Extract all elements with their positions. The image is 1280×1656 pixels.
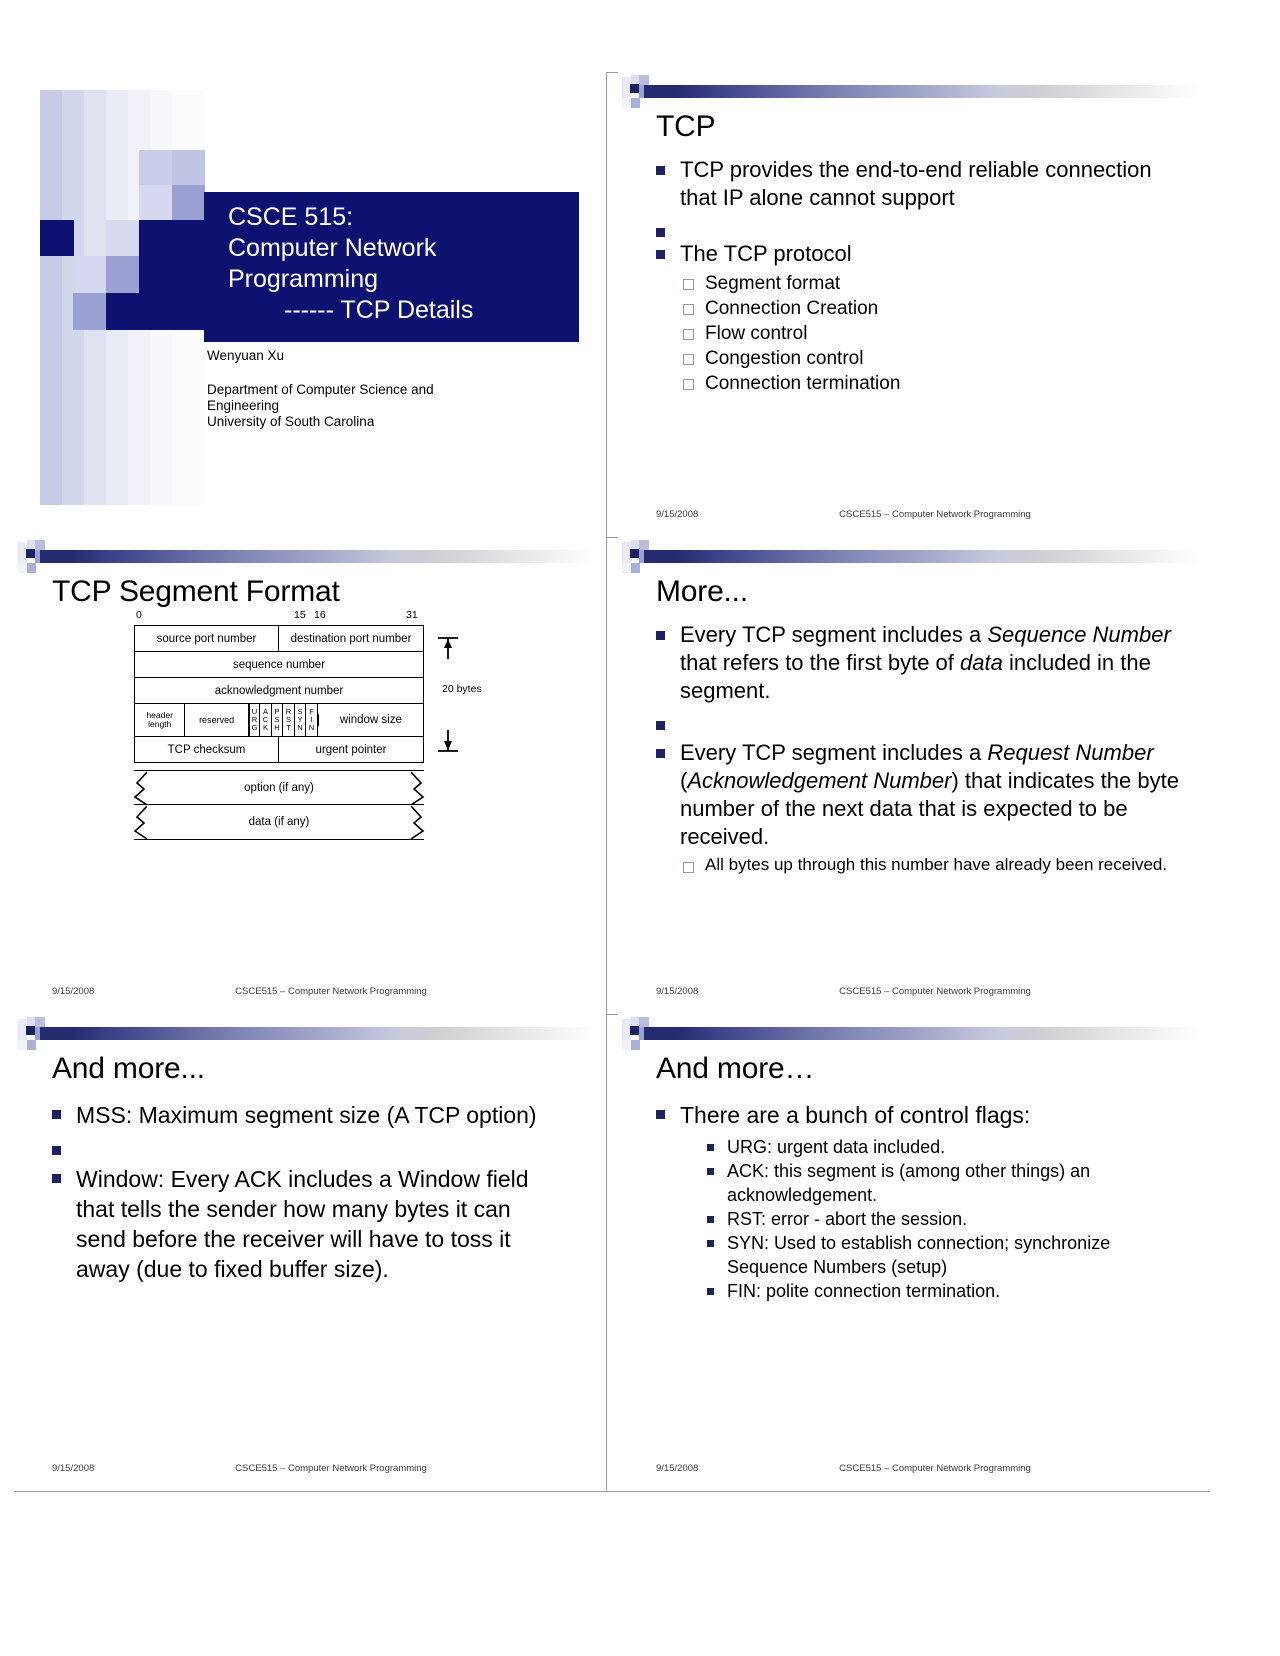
segment-header-table: source port number destination port numb… <box>134 625 424 763</box>
field-data: data (if any) <box>134 805 424 840</box>
table-row: source port number destination port numb… <box>135 626 423 652</box>
sub-bullet-text: ACK: this segment is (among other things… <box>727 1161 1090 1205</box>
title-decoration <box>40 90 205 505</box>
slide-header-decoration <box>618 1014 1210 1054</box>
flag-bit-fin: FIN <box>306 704 318 736</box>
sub-bullet-item: All bytes up through this number have al… <box>680 854 1192 876</box>
slide-footer: 9/15/2008 CSCE515 – Computer Network Pro… <box>618 1463 1210 1477</box>
slide-footer: 9/15/2008 CSCE515 – Computer Network Pro… <box>618 986 1210 1000</box>
affiliation-line-3: University of South Carolina <box>207 414 434 430</box>
field-option: option (if any) <box>134 770 424 805</box>
slide-and-more-1[interactable]: And more... MSS: Maximum segment size (A… <box>14 1014 606 1491</box>
footer-center: CSCE515 – Computer Network Programming <box>14 986 606 997</box>
affiliation-line-1: Department of Computer Science and <box>207 382 434 398</box>
bit-label-0: 0 <box>136 609 142 621</box>
table-row: acknowledgment number <box>135 678 423 704</box>
sub-bullet-item: Connection Creation <box>680 296 1172 321</box>
field-option-label: option (if any) <box>244 782 314 794</box>
sub-bullet-text: Flow control <box>705 323 807 344</box>
sub-bullet-text: Connection Creation <box>705 298 878 319</box>
bullet-list: MSS: Maximum segment size (A TCP option)… <box>48 1100 548 1290</box>
bullet-item: Every TCP segment includes a Request Num… <box>652 739 1192 876</box>
size-annotation: 20 bytes <box>432 635 502 745</box>
sub-bullet-item: Connection termination <box>680 371 1172 396</box>
header-gradient-bar <box>40 1027 596 1040</box>
slide-footer: 9/15/2008 CSCE515 – Computer Network Pro… <box>14 1463 606 1477</box>
slide-title-text: TCP Segment Format <box>52 575 340 609</box>
header-accent-square <box>630 1026 639 1035</box>
sub-bullet-item: Flow control <box>680 321 1172 346</box>
bullet-text: The TCP protocol <box>680 241 852 266</box>
flag-bit-syn: SYN <box>295 704 307 736</box>
slide-grid: CSCE 515: Computer Network Programming -… <box>14 72 1210 1492</box>
bullet-list: TCP provides the end-to-end reliable con… <box>652 156 1172 402</box>
bit-label-15: 15 <box>294 609 306 621</box>
flag-bit-urg: URG <box>249 704 261 736</box>
bullet-spacer <box>652 711 1192 733</box>
header-accent-square <box>630 549 639 558</box>
title-line-2: Computer Network <box>228 233 436 264</box>
bullet-text: TCP provides the end-to-end reliable con… <box>680 157 1152 210</box>
bullet-spacer <box>48 1136 548 1158</box>
title-line-4: ------ TCP Details <box>284 295 473 326</box>
slide-title-text: And more… <box>656 1052 814 1086</box>
field-window-size: window size <box>318 714 423 726</box>
sub-bullet-text: Segment format <box>705 273 840 294</box>
slide-header-decoration <box>14 1014 606 1054</box>
sub-bullet-item: Congestion control <box>680 346 1172 371</box>
bullet-item: TCP provides the end-to-end reliable con… <box>652 156 1172 212</box>
table-row: TCP checksum urgent pointer <box>135 737 423 763</box>
sub-bullet-list: Segment format Connection Creation Flow … <box>680 271 1172 396</box>
jagged-break-right-icon <box>411 805 425 839</box>
sub-bullet-item: RST: error - abort the session. <box>702 1207 1162 1231</box>
sub-bullet-text: SYN: Used to establish connection; synch… <box>727 1233 1110 1277</box>
sub-bullet-item: ACK: this segment is (among other things… <box>702 1159 1162 1207</box>
title-line-1: CSCE 515: <box>228 202 353 233</box>
table-row: sequence number <box>135 652 423 678</box>
footer-center: CSCE515 – Computer Network Programming <box>14 1463 606 1474</box>
header-gradient-bar <box>644 1027 1200 1040</box>
slide-more[interactable]: More... Every TCP segment includes a Seq… <box>618 537 1210 1014</box>
bit-ruler: 0 15 16 31 <box>134 609 464 625</box>
field-header-length: header length <box>135 704 185 736</box>
sub-bullet-list: URG: urgent data included. ACK: this seg… <box>680 1135 1162 1303</box>
bullet-text: Every TCP segment includes a Request Num… <box>680 740 1179 849</box>
field-sequence-number: sequence number <box>135 652 423 677</box>
field-acknowledgment-number: acknowledgment number <box>135 678 423 703</box>
header-gradient-bar <box>644 85 1200 98</box>
sub-bullet-item: URG: urgent data included. <box>702 1135 1162 1159</box>
bullet-text: Every TCP segment includes a Sequence Nu… <box>680 622 1171 703</box>
flag-bit-psh: PSH <box>272 704 284 736</box>
bit-label-31: 31 <box>406 609 418 621</box>
bullet-text: MSS: Maximum segment size (A TCP option) <box>76 1102 537 1128</box>
slide-title[interactable]: CSCE 515: Computer Network Programming -… <box>14 72 606 537</box>
slide-segment-format[interactable]: TCP Segment Format 0 15 16 31 source por… <box>14 537 606 1014</box>
size-arrow-icon <box>432 635 472 755</box>
footer-center: CSCE515 – Computer Network Programming <box>618 986 1210 997</box>
bullet-item: MSS: Maximum segment size (A TCP option) <box>48 1100 548 1130</box>
field-tcp-checksum: TCP checksum <box>135 737 279 762</box>
flag-bit-rst: RST <box>283 704 295 736</box>
bullet-text: There are a bunch of control flags: <box>680 1102 1030 1128</box>
bullet-text: Window: Every ACK includes a Window fiel… <box>76 1166 529 1282</box>
slide-footer: 9/15/2008 CSCE515 – Computer Network Pro… <box>14 986 606 1000</box>
header-length-line-2: length <box>148 720 171 730</box>
field-reserved: reserved <box>185 704 248 736</box>
jagged-break-right-icon <box>411 771 425 804</box>
bullet-item: Window: Every ACK includes a Window fiel… <box>48 1164 548 1284</box>
sub-bullet-list: All bytes up through this number have al… <box>680 854 1192 876</box>
title-box: CSCE 515: Computer Network Programming -… <box>204 192 579 342</box>
header-gradient-bar <box>40 550 596 563</box>
bullet-spacer <box>652 218 1172 240</box>
field-data-label: data (if any) <box>249 816 310 828</box>
slide-and-more-2[interactable]: And more… There are a bunch of control f… <box>618 1014 1210 1491</box>
header-accent-square <box>26 549 35 558</box>
affiliation: Department of Computer Science and Engin… <box>207 382 434 430</box>
bullet-item: Every TCP segment includes a Sequence Nu… <box>652 621 1192 705</box>
title-line-3: Programming <box>228 264 378 295</box>
bullet-list: Every TCP segment includes a Sequence Nu… <box>652 621 1192 882</box>
slide-header-decoration <box>618 537 1210 577</box>
bit-label-16: 16 <box>314 609 326 621</box>
slide-title-text: TCP <box>656 110 715 144</box>
slide-header-decoration <box>618 72 1210 112</box>
bullet-item: The TCP protocol Segment format Connecti… <box>652 240 1172 396</box>
bullet-item: There are a bunch of control flags: URG:… <box>652 1100 1162 1303</box>
header-gradient-bar <box>644 550 1200 563</box>
header-accent-square <box>630 84 639 93</box>
jagged-break-left-icon <box>133 805 147 839</box>
slide-title-text: More... <box>656 575 748 609</box>
sub-bullet-text: FIN: polite connection termination. <box>727 1281 1000 1301</box>
sub-bullet-item: FIN: polite connection termination. <box>702 1279 1162 1303</box>
jagged-break-left-icon <box>133 771 147 804</box>
bullet-list: There are a bunch of control flags: URG:… <box>652 1100 1162 1309</box>
field-destination-port: destination port number <box>279 626 423 651</box>
table-row-flags: header length reserved URG ACK PSH RST S… <box>135 704 423 737</box>
sub-bullet-text: All bytes up through this number have al… <box>705 855 1167 874</box>
sub-bullet-item: Segment format <box>680 271 1172 296</box>
affiliation-line-2: Engineering <box>207 398 434 414</box>
footer-center: CSCE515 – Computer Network Programming <box>618 1463 1210 1474</box>
slide-title-text: And more... <box>52 1052 205 1086</box>
sub-bullet-text: RST: error - abort the session. <box>727 1209 967 1229</box>
sub-bullet-text: URG: urgent data included. <box>727 1137 945 1157</box>
slide-tcp[interactable]: TCP TCP provides the end-to-end reliable… <box>618 72 1210 537</box>
size-annotation-label: 20 bytes <box>442 683 482 695</box>
handout-page: CSCE 515: Computer Network Programming -… <box>0 0 1280 1656</box>
field-urgent-pointer: urgent pointer <box>279 737 423 762</box>
slide-header-decoration <box>14 537 606 577</box>
flag-bits-group: URG ACK PSH RST SYN FIN <box>249 704 318 736</box>
sub-bullet-item: SYN: Used to establish connection; synch… <box>702 1231 1162 1279</box>
field-source-port: source port number <box>135 626 279 651</box>
sub-bullet-text: Connection termination <box>705 373 900 394</box>
flag-bit-ack: ACK <box>260 704 272 736</box>
sub-bullet-text: Congestion control <box>705 348 863 369</box>
tcp-segment-diagram: 0 15 16 31 source port number destinatio… <box>134 609 464 840</box>
footer-center: CSCE515 – Computer Network Programming <box>618 509 1210 520</box>
header-accent-square <box>26 1026 35 1035</box>
slide-footer: 9/15/2008 CSCE515 – Computer Network Pro… <box>618 509 1210 523</box>
author-name: Wenyuan Xu <box>207 347 284 364</box>
